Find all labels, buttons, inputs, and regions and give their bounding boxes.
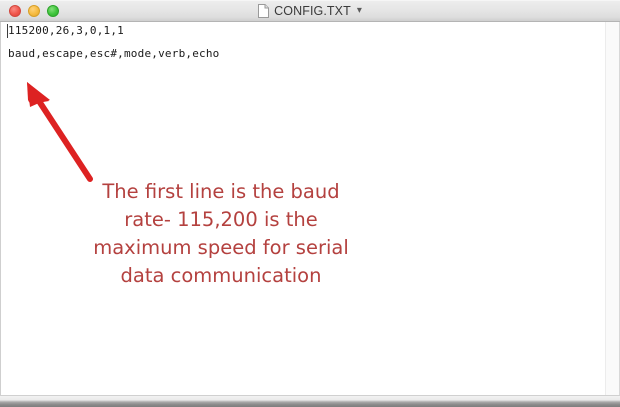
red-pointer-arrow xyxy=(15,74,105,189)
minimize-button[interactable] xyxy=(28,5,40,17)
window-titlebar: CONFIG.TXT ▾ xyxy=(0,0,620,22)
window-controls xyxy=(9,5,59,17)
window-bottom-edge xyxy=(0,396,620,407)
zoom-button[interactable] xyxy=(47,5,59,17)
chevron-down-icon[interactable]: ▾ xyxy=(357,6,362,16)
annotation-caption-line-4: data communication xyxy=(49,262,393,290)
code-line-1: 115200,26,3,0,1,1 xyxy=(8,24,124,37)
document-icon xyxy=(258,4,269,18)
window-title-group: CONFIG.TXT ▾ xyxy=(0,0,620,22)
vertical-scrollbar[interactable] xyxy=(605,22,619,396)
annotation-caption: The first line is the baud rate- 115,200… xyxy=(49,178,393,290)
annotation-caption-line-2: rate- 115,200 is the xyxy=(49,206,393,234)
annotation-caption-line-3: maximum speed for serial xyxy=(49,234,393,262)
annotation-caption-line-1: The first line is the baud xyxy=(49,178,393,206)
editor-content-area[interactable]: 115200,26,3,0,1,1 baud,escape,esc#,mode,… xyxy=(0,22,620,396)
window-title: CONFIG.TXT xyxy=(274,4,351,18)
code-line-2: baud,escape,esc#,mode,verb,echo xyxy=(8,47,220,60)
text-editor-window: CONFIG.TXT ▾ 115200,26,3,0,1,1 baud,esca… xyxy=(0,0,620,407)
close-button[interactable] xyxy=(9,5,21,17)
